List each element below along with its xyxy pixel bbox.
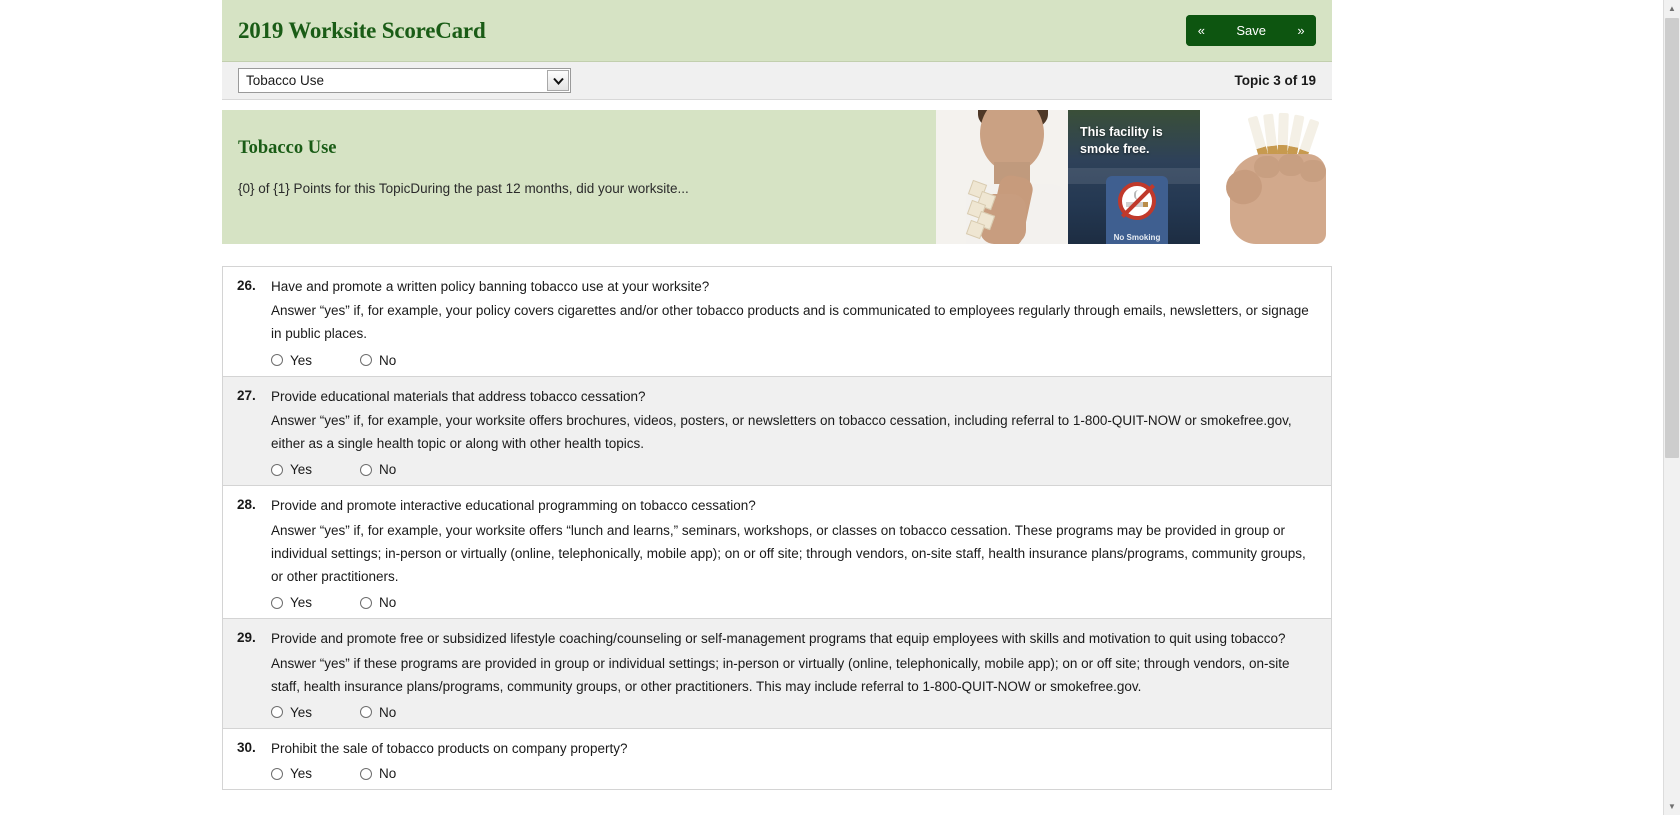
answer-option-yes[interactable]: Yes — [271, 595, 350, 610]
question-body: Prohibit the sale of tobacco products on… — [271, 739, 1317, 781]
question-number: 27. — [237, 387, 271, 478]
answer-option-yes-radio[interactable] — [271, 706, 283, 718]
hand-crushing-cigarettes-image — [1200, 110, 1332, 244]
save-button[interactable]: Save — [1216, 15, 1286, 46]
question-body: Provide educational materials that addre… — [271, 387, 1317, 478]
question-row: 30.Prohibit the sale of tobacco products… — [223, 729, 1331, 790]
smoke-free-caption: This facility is smoke free. — [1080, 124, 1163, 157]
question-text: Provide and promote interactive educatio… — [271, 496, 1317, 516]
photo-detail-knuckle — [1300, 160, 1326, 182]
answer-option-no[interactable]: No — [360, 766, 434, 781]
scrollbar-thumb[interactable] — [1665, 18, 1679, 458]
answer-option-no-label: No — [379, 705, 396, 720]
photo-detail-knuckle — [1254, 156, 1280, 178]
question-text: Provide educational materials that addre… — [271, 387, 1317, 407]
answer-option-no[interactable]: No — [360, 353, 434, 368]
answer-option-yes-radio[interactable] — [271, 464, 283, 476]
page-title: 2019 Worksite ScoreCard — [238, 18, 486, 44]
topic-banner-title: Tobacco Use — [238, 138, 936, 159]
answer-option-no[interactable]: No — [360, 462, 434, 477]
question-row: 28.Provide and promote interactive educa… — [223, 486, 1331, 619]
question-body: Provide and promote interactive educatio… — [271, 496, 1317, 610]
topic-select-value: Tobacco Use — [246, 73, 324, 88]
scrollbar-down-arrow[interactable]: ▼ — [1664, 798, 1680, 815]
question-text: Prohibit the sale of tobacco products on… — [271, 739, 1317, 759]
topic-banner: Tobacco Use {0} of {1} Points for this T… — [222, 110, 1332, 244]
answer-option-no-label: No — [379, 353, 396, 368]
topic-selector-row: Tobacco Use Topic 3 of 19 — [222, 62, 1332, 100]
question-help-text: Answer “yes” if, for example, your polic… — [271, 299, 1317, 345]
answer-options: YesNo — [271, 462, 1317, 477]
scrollbar-up-arrow[interactable]: ▲ — [1664, 0, 1680, 17]
no-smoking-placard: No Smoking — [1106, 176, 1168, 244]
answer-option-yes[interactable]: Yes — [271, 462, 350, 477]
answer-option-yes-radio[interactable] — [271, 354, 283, 366]
question-help-text: Answer “yes” if, for example, your works… — [271, 519, 1317, 589]
question-row: 29.Provide and promote free or subsidize… — [223, 619, 1331, 729]
answer-option-yes-label: Yes — [290, 705, 312, 720]
answer-option-yes-radio[interactable] — [271, 768, 283, 780]
question-number: 28. — [237, 496, 271, 610]
question-help-text: Answer “yes” if these programs are provi… — [271, 652, 1317, 698]
answer-options: YesNo — [271, 353, 1317, 368]
smoke-free-caption-line1: This facility is — [1080, 124, 1163, 141]
question-body: Have and promote a written policy bannin… — [271, 277, 1317, 368]
answer-option-no-radio[interactable] — [360, 706, 372, 718]
question-text: Have and promote a written policy bannin… — [271, 277, 1317, 297]
app-header: 2019 Worksite ScoreCard « Save » — [222, 0, 1332, 62]
answer-option-yes-label: Yes — [290, 462, 312, 477]
answer-options: YesNo — [271, 595, 1317, 610]
question-text: Provide and promote free or subsidized l… — [271, 629, 1317, 649]
answer-option-no-label: No — [379, 766, 396, 781]
topic-banner-text: Tobacco Use {0} of {1} Points for this T… — [222, 110, 936, 244]
answer-option-yes[interactable]: Yes — [271, 353, 350, 368]
topic-select-dropdown[interactable]: Tobacco Use — [238, 68, 571, 93]
previous-topic-button[interactable]: « — [1186, 15, 1216, 46]
answer-option-yes[interactable]: Yes — [271, 705, 350, 720]
page-scrollbar[interactable]: ▲ ▼ — [1663, 0, 1680, 815]
answer-options: YesNo — [271, 766, 1317, 781]
topic-banner-description: {0} of {1} Points for this TopicDuring t… — [238, 179, 936, 199]
question-body: Provide and promote free or subsidized l… — [271, 629, 1317, 720]
answer-option-yes-label: Yes — [290, 595, 312, 610]
no-smoking-placard-label: No Smoking — [1106, 233, 1168, 242]
man-with-nicotine-gum-image — [936, 110, 1068, 244]
answer-option-yes-label: Yes — [290, 766, 312, 781]
answer-option-yes-radio[interactable] — [271, 597, 283, 609]
answer-option-no[interactable]: No — [360, 595, 434, 610]
answer-option-no-radio[interactable] — [360, 464, 372, 476]
question-number: 26. — [237, 277, 271, 368]
no-smoking-facility-sign-image: This facility is smoke free. No Smoking — [1068, 110, 1200, 244]
next-topic-button[interactable]: » — [1286, 15, 1316, 46]
main-container: 2019 Worksite ScoreCard « Save » Tobacco… — [222, 0, 1332, 790]
smoke-free-caption-line2: smoke free. — [1080, 141, 1163, 158]
topic-counter: Topic 3 of 19 — [1234, 73, 1316, 88]
answer-option-no-radio[interactable] — [360, 768, 372, 780]
question-help-text: Answer “yes” if, for example, your works… — [271, 409, 1317, 455]
question-number: 29. — [237, 629, 271, 720]
answer-options: YesNo — [271, 705, 1317, 720]
topic-banner-images: This facility is smoke free. No Smoking — [936, 110, 1332, 244]
chevron-down-icon[interactable] — [547, 70, 569, 91]
question-row: 27.Provide educational materials that ad… — [223, 377, 1331, 487]
answer-option-no[interactable]: No — [360, 705, 434, 720]
answer-option-no-radio[interactable] — [360, 354, 372, 366]
question-row: 26.Have and promote a written policy ban… — [223, 267, 1331, 377]
answer-option-no-label: No — [379, 595, 396, 610]
answer-option-yes-label: Yes — [290, 353, 312, 368]
scorecard-page: ▲ ▼ 2019 Worksite ScoreCard « Save » Tob… — [0, 0, 1680, 815]
answer-option-no-label: No — [379, 462, 396, 477]
questions-list: 26.Have and promote a written policy ban… — [222, 266, 1332, 790]
answer-option-no-radio[interactable] — [360, 597, 372, 609]
question-number: 30. — [237, 739, 271, 781]
answer-option-yes[interactable]: Yes — [271, 766, 350, 781]
nav-save-button-group: « Save » — [1186, 15, 1316, 46]
